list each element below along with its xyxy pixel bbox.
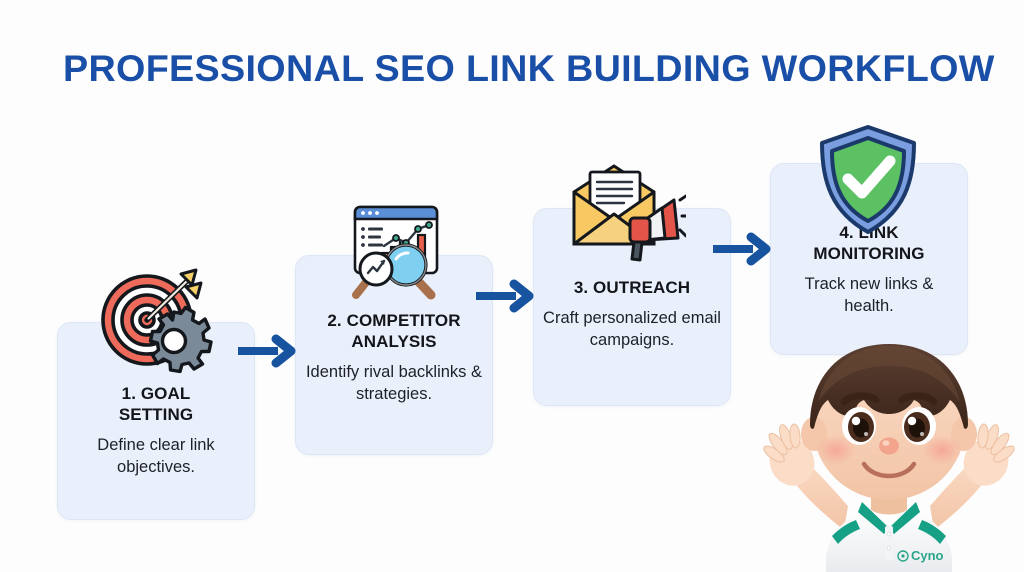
page-title: PROFESSIONAL SEO LINK BUILDING WORKFLOW <box>63 48 995 90</box>
step-card-text-2: 2. COMPETITOR ANALYSIS Identify rival ba… <box>304 310 484 405</box>
step-title-1-line2: SETTING <box>119 405 193 424</box>
step-desc-1: Define clear link objectives. <box>66 434 246 478</box>
step-title-2-line1: 2. COMPETITOR <box>327 311 460 330</box>
step-desc-4: Track new links & health. <box>779 273 959 317</box>
arrow-step3-to-step4 <box>713 231 775 267</box>
step-desc-2: Identify rival backlinks & strategies. <box>304 361 484 405</box>
step-card-text-1: 1. GOAL SETTING Define clear link object… <box>66 383 246 478</box>
infographic-canvas: PROFESSIONAL SEO LINK BUILDING WORKFLOW … <box>0 0 1024 572</box>
step-title-2: 2. COMPETITOR ANALYSIS <box>304 310 484 352</box>
analytics-magnifier-icon <box>336 203 454 308</box>
step-desc-3: Craft personalized email campaigns. <box>542 307 722 351</box>
step-title-3: 3. OUTREACH <box>542 277 722 298</box>
step-title-1: 1. GOAL SETTING <box>66 383 246 425</box>
step-title-2-line2: ANALYSIS <box>351 332 436 351</box>
envelope-megaphone-icon <box>560 158 686 266</box>
target-gear-icon <box>95 258 213 376</box>
arrow-step2-to-step3 <box>476 278 538 314</box>
cartoon-boy-mascot: Cyno <box>748 330 1024 572</box>
step-title-1-line1: 1. GOAL <box>122 384 191 403</box>
shield-check-icon <box>812 122 924 237</box>
arrow-step1-to-step2 <box>238 333 300 369</box>
mascot-logo-text: Cyno <box>911 548 944 563</box>
step-title-4-line2: MONITORING <box>813 244 924 263</box>
step-card-text-3: 3. OUTREACH Craft personalized email cam… <box>542 277 722 351</box>
mascot-head <box>801 344 977 500</box>
